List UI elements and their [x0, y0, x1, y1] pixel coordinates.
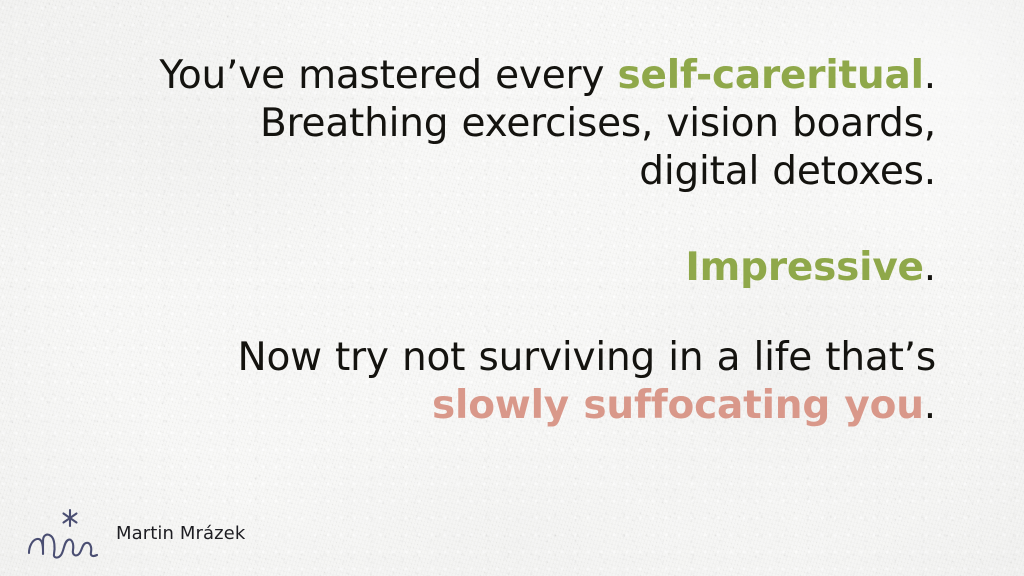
quote-paragraph-1: You’ve mastered every self-careritual. B… — [60, 52, 936, 196]
quote-impressive-highlight: Impressive — [685, 245, 923, 290]
quote-line-5-highlight: slowly suffocating you — [432, 383, 924, 428]
quote-line-4: Now try not surviving in a life that’s — [237, 335, 936, 380]
quote-line-1-period: . — [924, 53, 936, 98]
quote-line-2: Breathing exercises, vision boards, — [260, 101, 936, 146]
quote-text-block: You’ve mastered every self-careritual. B… — [60, 52, 936, 430]
slide-canvas: You’ve mastered every self-careritual. B… — [0, 0, 1024, 576]
brand-signature: Martin Mrázek — [26, 504, 245, 562]
quote-line-5-period: . — [924, 383, 936, 428]
quote-impressive-period: . — [924, 245, 936, 290]
quote-line-1-lead: You’ve mastered every — [159, 53, 617, 98]
quote-paragraph-3: Now try not surviving in a life that’s s… — [60, 334, 936, 430]
quote-line-3: digital detoxes. — [639, 149, 936, 194]
brand-author-name: Martin Mrázek — [116, 523, 245, 544]
quote-line-1-highlight: self-careritual — [617, 53, 923, 98]
quote-paragraph-2: Impressive. — [60, 244, 936, 292]
spacer-after-paragraph-1 — [60, 196, 936, 244]
spacer-after-paragraph-2 — [60, 292, 936, 334]
signature-squiggle-icon — [26, 504, 102, 562]
